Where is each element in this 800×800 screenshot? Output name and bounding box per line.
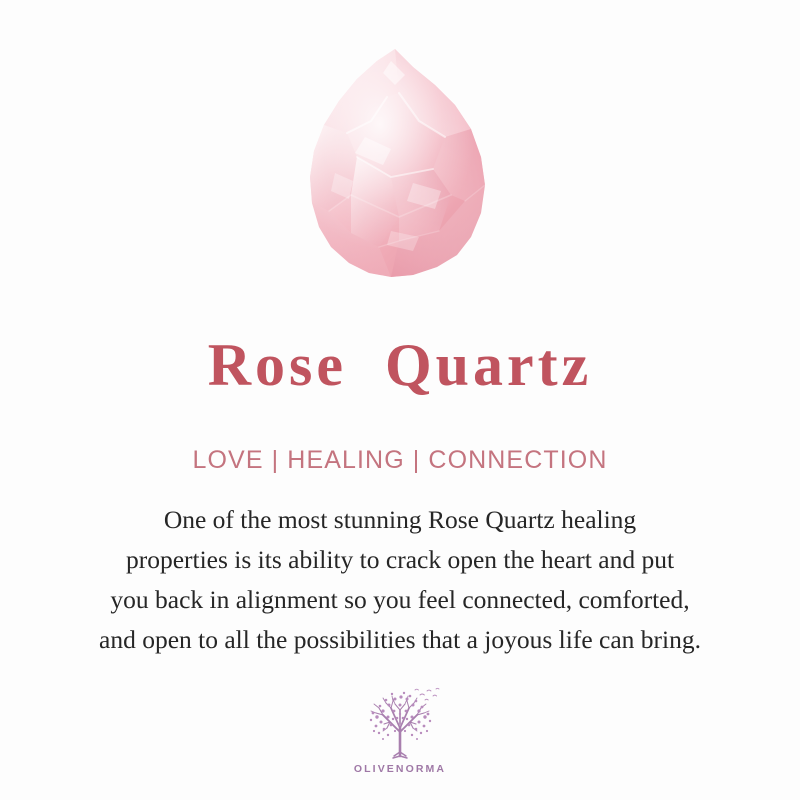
rose-quartz-crystal: [295, 45, 505, 285]
tree-of-life-icon: [357, 684, 443, 760]
description-line: properties is its ability to crack open …: [26, 540, 774, 580]
description-line: and open to all the possibilities that a…: [26, 620, 774, 660]
page-title: Rose Quartz: [0, 334, 800, 397]
brand-logo: OLIVENORMA: [0, 684, 800, 775]
description-paragraph: One of the most stunning Rose Quartz hea…: [26, 500, 774, 660]
description-line: you back in alignment so you feel connec…: [26, 580, 774, 620]
keyword-tagline: LOVE | HEALING | CONNECTION: [0, 447, 800, 475]
hero-image-area: [0, 40, 800, 290]
description-line: One of the most stunning Rose Quartz hea…: [26, 500, 774, 540]
rose-quartz-crystal-icon: [295, 45, 505, 285]
rose-quartz-info-card: Rose Quartz LOVE | HEALING | CONNECTION …: [0, 0, 800, 800]
brand-name: OLIVENORMA: [354, 763, 446, 775]
